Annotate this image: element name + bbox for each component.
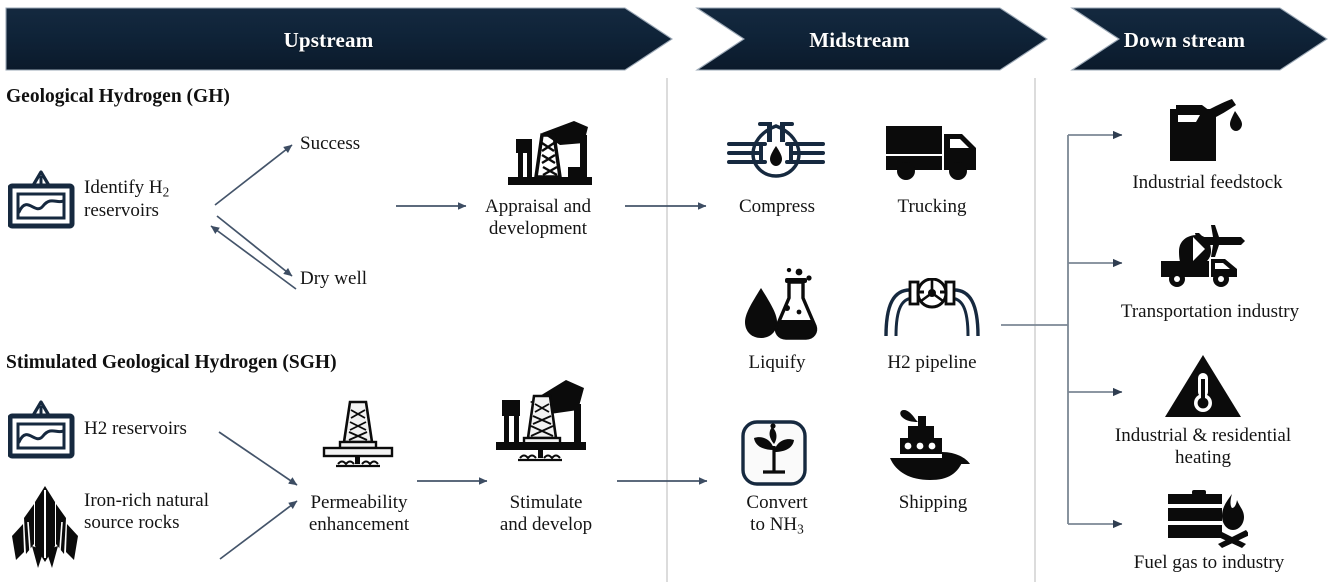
pumpjack-icon: [502, 113, 598, 189]
arrow-identify-to-success: [215, 145, 292, 205]
node-convert-to-nh3: Convert to NH3: [712, 492, 842, 538]
node-identify-line2: reservoirs: [84, 200, 159, 221]
node-permeability-line1: Permeability: [310, 492, 407, 513]
node-identify-line1: Identify H: [84, 177, 163, 198]
section-title-gh: Geological Hydrogen (GH): [6, 86, 230, 108]
node-convert-line1: Convert: [746, 492, 807, 513]
node-industrial-feedstock: Industrial feedstock: [1100, 172, 1315, 194]
node-appraisal-development: Appraisal and development: [450, 196, 626, 241]
node-permeability-enhancement: Permeability enhancement: [290, 492, 428, 537]
node-convert-sub: 3: [797, 522, 804, 537]
stage-label-midstream: Midstream: [767, 28, 952, 53]
ship-icon: [886, 408, 972, 484]
node-identify-sub: 2: [163, 185, 170, 200]
droplet-flask-icon: [737, 268, 823, 340]
seismic-survey-icon: [8, 398, 80, 460]
node-identify-h2-reservoirs: Identify H2 reservoirs: [84, 177, 214, 223]
node-iron-rich-rocks: Iron-rich natural source rocks: [84, 490, 234, 535]
arrow-identify-to-drywell: [217, 216, 292, 276]
drilling-rig-icon: [318, 398, 398, 470]
node-rocks-line1: Iron-rich natural: [84, 490, 209, 511]
node-h2-reservoirs: H2 reservoirs: [84, 418, 187, 440]
mineral-rocks-icon: [10, 484, 80, 570]
node-appraisal-line1: Appraisal and: [485, 196, 591, 217]
node-convert-line2: to NH: [750, 514, 797, 535]
plant-sprout-icon: [741, 420, 807, 486]
truck-icon: [884, 122, 980, 184]
node-shipping: Shipping: [858, 492, 1008, 514]
node-stimulate-line2: and develop: [500, 514, 592, 535]
pumpjack-derrick-icon: [486, 376, 594, 470]
fuel-barrel-fire-icon: [1160, 488, 1248, 548]
node-stimulate-develop: Stimulate and develop: [472, 492, 620, 537]
node-industrial-residential-heating: Industrial & residential heating: [1078, 425, 1328, 470]
jerrycan-icon: [1166, 95, 1242, 165]
node-liquify: Liquify: [712, 352, 842, 374]
node-fuel-gas-to-industry: Fuel gas to industry: [1100, 552, 1318, 574]
heating-thermometer-icon: [1163, 353, 1243, 419]
node-permeability-line2: enhancement: [309, 514, 409, 535]
node-trucking: Trucking: [858, 196, 1006, 218]
node-transportation-industry: Transportation industry: [1094, 301, 1326, 323]
node-compress: Compress: [700, 196, 854, 218]
node-heating-line2: heating: [1175, 447, 1231, 468]
node-rocks-line2: source rocks: [84, 512, 180, 533]
stage-label-downstream: Down stream: [1092, 28, 1277, 53]
pipeline-valve-icon: [880, 278, 984, 340]
node-heating-line1: Industrial & residential: [1115, 425, 1291, 446]
arrow-drywell-to-identify: [211, 226, 296, 289]
arrow-reservoirs-to-permeability: [219, 432, 297, 485]
node-stimulate-line1: Stimulate: [510, 492, 583, 513]
seismic-survey-icon: [8, 168, 80, 230]
compressor-valve-icon: [727, 120, 825, 186]
node-appraisal-line2: development: [489, 218, 587, 239]
node-h2-pipeline: H2 pipeline: [852, 352, 1012, 374]
stage-label-upstream: Upstream: [236, 28, 421, 53]
node-dry-well: Dry well: [300, 268, 367, 290]
transport-vehicles-icon: [1155, 215, 1255, 291]
section-title-sgh: Stimulated Geological Hydrogen (SGH): [6, 352, 337, 374]
node-success: Success: [300, 133, 360, 155]
diagram-canvas: Upstream Midstream Down stream Geologica…: [0, 0, 1331, 586]
